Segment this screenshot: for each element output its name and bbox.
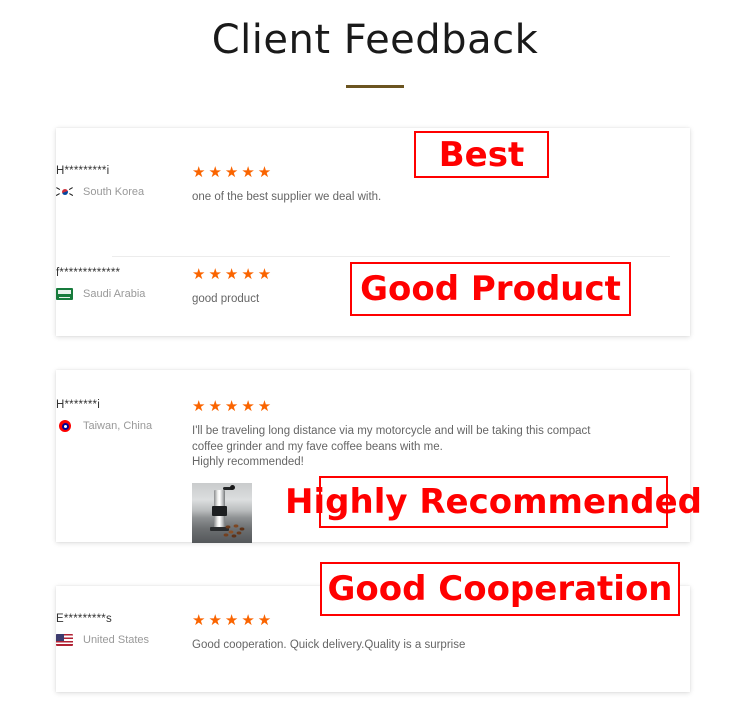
rating-stars: ★★★★★	[192, 398, 738, 415]
annotation-good-product: Good Product	[350, 262, 631, 316]
review-photo-coffee-grinder[interactable]	[192, 483, 252, 543]
reviewer-country: South Korea	[56, 186, 192, 198]
title-underline-rule	[346, 85, 404, 88]
annotation-good-cooperation: Good Cooperation	[320, 562, 680, 616]
annotation-best: Best	[414, 131, 549, 178]
country-label: South Korea	[83, 186, 144, 198]
flag-south-korea-icon	[56, 186, 73, 198]
flag-taiwan-icon	[56, 420, 73, 432]
reviewer-country: Saudi Arabia	[56, 288, 192, 300]
reviewer-info: H*********i South Korea	[0, 164, 192, 198]
country-label: Taiwan, China	[83, 420, 152, 432]
review-row: E*********s United States ★★★★★ Good coo…	[0, 612, 750, 654]
reviewer-info: E*********s United States	[0, 612, 192, 646]
flag-saudi-arabia-icon	[56, 288, 73, 300]
reviewer-name: H*********i	[56, 164, 192, 178]
reviewer-name: E*********s	[56, 612, 192, 626]
review-row: H*********i South Korea ★★★★★ one of the…	[0, 164, 750, 206]
reviewer-name: f*************	[56, 266, 192, 280]
review-content: ★★★★★ Good cooperation. Quick delivery.Q…	[192, 612, 750, 654]
reviewer-info: H*******i Taiwan, China	[0, 398, 192, 432]
annotation-highly-recommended: Highly Recommended	[319, 476, 668, 528]
review-text: one of the best supplier we deal with.	[192, 190, 622, 206]
review-text: I'll be traveling long distance via my m…	[192, 424, 622, 471]
row-divider	[112, 256, 670, 257]
country-label: Saudi Arabia	[83, 288, 145, 300]
reviewer-name: H*******i	[56, 398, 192, 412]
reviewer-country: Taiwan, China	[56, 420, 192, 432]
page-header: Client Feedback	[0, 0, 750, 88]
review-text: Good cooperation. Quick delivery.Quality…	[192, 638, 622, 654]
flag-united-states-icon	[56, 634, 73, 646]
reviewer-info: f************* Saudi Arabia	[0, 266, 192, 300]
reviewer-country: United States	[56, 634, 192, 646]
country-label: United States	[83, 634, 149, 646]
page-title: Client Feedback	[0, 16, 750, 64]
